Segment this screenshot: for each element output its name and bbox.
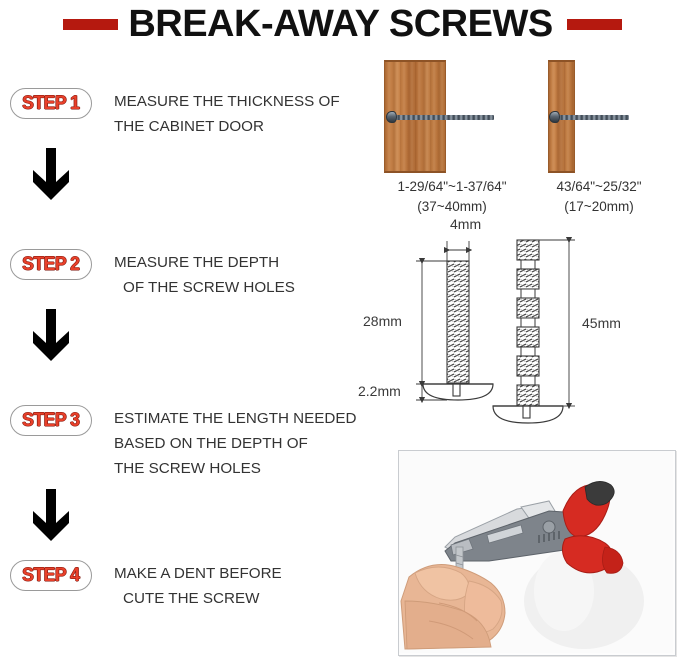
thin-door-caption: 43/64"~25/32" (17~20mm)	[524, 177, 674, 217]
thick-door-inches: 1-29/64"~1-37/64"	[372, 177, 532, 197]
thick-door-board-wrap	[372, 55, 532, 173]
step-description-1: MEASURE THE THICKNESS OF THE CABINET DOO…	[114, 88, 340, 139]
step-row-2: STEP 2 MEASURE THE DEPTH OF THE SCREW HO…	[0, 249, 400, 300]
step-line: ESTIMATE THE LENGTH NEEDED	[114, 406, 356, 431]
step-line: THE CABINET DOOR	[114, 114, 340, 139]
infographic-page: BREAK-AWAY SCREWS STEP 1 MEASURE THE THI…	[0, 0, 679, 662]
step-badge-label-4: STEP 4	[22, 566, 79, 585]
screw-head	[549, 111, 560, 123]
dim-label-thread-diameter: 4mm	[450, 216, 481, 232]
screw-head	[386, 111, 397, 123]
thin-door-mm: (17~20mm)	[524, 197, 674, 217]
pliers-cutting-screw-photo	[398, 450, 676, 656]
down-arrow-2	[29, 307, 73, 365]
screw-dimension-drawing: 4mm 28mm 2.2mm 45mm	[400, 228, 679, 438]
screw-through-thick-door	[386, 112, 496, 122]
step-line: THE SCREW HOLES	[114, 456, 356, 481]
down-arrow-3	[29, 487, 73, 545]
step-badge-label-1: STEP 1	[22, 94, 79, 113]
thick-door-figure: 1-29/64"~1-37/64" (37~40mm)	[372, 55, 532, 173]
step-row-4: STEP 4 MAKE A DENT BEFORE CUTE THE SCREW	[0, 560, 400, 611]
screw-shaft	[559, 115, 629, 120]
step-badge-2: STEP 2	[10, 249, 92, 280]
cabinet-door-illustrations: 1-29/64"~1-37/64" (37~40mm) 43/64"~25/32…	[372, 55, 679, 220]
step-badge-4: STEP 4	[10, 560, 92, 591]
step-line: MEASURE THE THICKNESS OF	[114, 89, 340, 114]
step-badge-3: STEP 3	[10, 405, 92, 436]
screw-dimension-svg	[400, 228, 679, 438]
right-red-dash	[567, 19, 622, 30]
step-row-3: STEP 3 ESTIMATE THE LENGTH NEEDED BASED …	[0, 405, 400, 481]
step-row-1: STEP 1 MEASURE THE THICKNESS OF THE CABI…	[0, 88, 400, 139]
step-badge-1: STEP 1	[10, 88, 92, 119]
step-line: OF THE SCREW HOLES	[114, 275, 295, 300]
thin-door-inches: 43/64"~25/32"	[524, 177, 674, 197]
pliers-photo-svg	[399, 451, 673, 653]
thin-door-board-wrap	[524, 55, 674, 173]
thick-door-mm: (37~40mm)	[372, 197, 532, 217]
step-line: BASED ON THE DEPTH OF	[114, 431, 356, 456]
step-badge-label-2: STEP 2	[22, 255, 79, 274]
step-description-3: ESTIMATE THE LENGTH NEEDED BASED ON THE …	[114, 405, 356, 481]
step-line: MAKE A DENT BEFORE	[114, 561, 282, 586]
thin-door-figure: 43/64"~25/32" (17~20mm)	[524, 55, 674, 173]
step-description-2: MEASURE THE DEPTH OF THE SCREW HOLES	[114, 249, 295, 300]
screw-through-thin-door	[549, 112, 631, 122]
down-arrow-1	[29, 146, 73, 204]
dim-label-screw-length: 28mm	[363, 313, 402, 329]
left-red-dash	[63, 19, 118, 30]
dim-label-long-screw-length: 45mm	[582, 315, 621, 331]
step-line: CUTE THE SCREW	[114, 586, 282, 611]
page-header: BREAK-AWAY SCREWS	[0, 0, 679, 48]
dim-label-head-height: 2.2mm	[358, 383, 401, 399]
step-description-4: MAKE A DENT BEFORE CUTE THE SCREW	[114, 560, 282, 611]
step-line: MEASURE THE DEPTH	[114, 250, 295, 275]
step-badge-label-3: STEP 3	[22, 411, 79, 430]
page-title: BREAK-AWAY SCREWS	[128, 5, 552, 43]
steps-column: STEP 1 MEASURE THE THICKNESS OF THE CABI…	[0, 50, 400, 662]
screw-shaft	[396, 115, 494, 120]
thick-door-caption: 1-29/64"~1-37/64" (37~40mm)	[372, 177, 532, 217]
